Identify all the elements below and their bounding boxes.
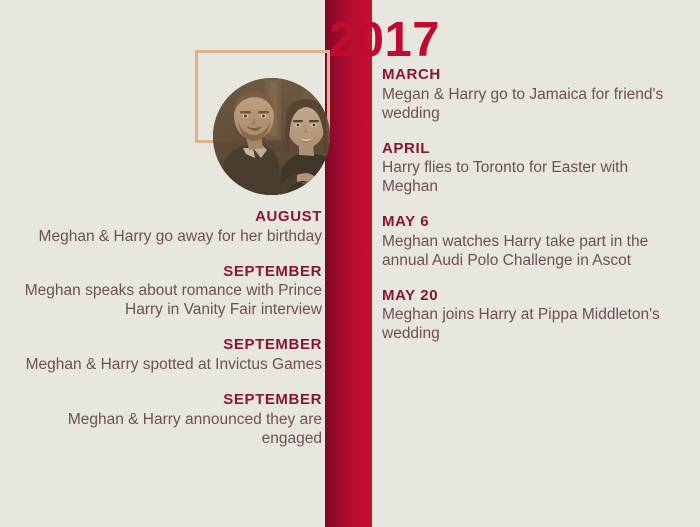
timeline-entry: APRIL Harry flies to Toronto for Easter … bbox=[382, 140, 682, 198]
entry-description: Megan & Harry go to Jamaica for friend's… bbox=[382, 86, 682, 124]
timeline-right-column: MARCH Megan & Harry go to Jamaica for fr… bbox=[382, 66, 682, 344]
entry-date: MAY 20 bbox=[382, 287, 682, 306]
entry-description: Harry flies to Toronto for Easter with M… bbox=[382, 159, 682, 197]
timeline-entry: SEPTEMBER Meghan speaks about romance wi… bbox=[20, 263, 322, 321]
entry-description: Meghan & Harry announced they are engage… bbox=[20, 411, 322, 449]
timeline-entry: MAY 20 Meghan joins Harry at Pippa Middl… bbox=[382, 287, 682, 345]
couple-portrait-photo bbox=[213, 78, 330, 195]
entry-date: MARCH bbox=[382, 66, 682, 85]
entry-date: SEPTEMBER bbox=[20, 263, 322, 282]
entry-description: Meghan joins Harry at Pippa Middleton's … bbox=[382, 306, 682, 344]
entry-date: SEPTEMBER bbox=[20, 336, 322, 355]
center-red-band bbox=[325, 0, 372, 527]
entry-date: MAY 6 bbox=[382, 213, 682, 232]
timeline-entry: MAY 6 Meghan watches Harry take part in … bbox=[382, 213, 682, 271]
entry-date: AUGUST bbox=[20, 208, 322, 227]
timeline-entry: SEPTEMBER Meghan & Harry spotted at Invi… bbox=[20, 336, 322, 375]
entry-description: Meghan speaks about romance with Prince … bbox=[20, 282, 322, 320]
timeline-left-column: AUGUST Meghan & Harry go away for her bi… bbox=[20, 208, 322, 448]
timeline-infographic: 2017 2017 AUGUST Meghan & Harry go away … bbox=[0, 0, 700, 527]
timeline-entry: MARCH Megan & Harry go to Jamaica for fr… bbox=[382, 66, 682, 124]
entry-description: Meghan watches Harry take part in the an… bbox=[382, 233, 682, 271]
entry-date: APRIL bbox=[382, 140, 682, 159]
entry-description: Meghan & Harry go away for her birthday bbox=[20, 228, 322, 247]
timeline-entry: AUGUST Meghan & Harry go away for her bi… bbox=[20, 208, 322, 247]
entry-description: Meghan & Harry spotted at Invictus Games bbox=[20, 356, 322, 375]
timeline-entry: SEPTEMBER Meghan & Harry announced they … bbox=[20, 391, 322, 449]
entry-date: SEPTEMBER bbox=[20, 391, 322, 410]
